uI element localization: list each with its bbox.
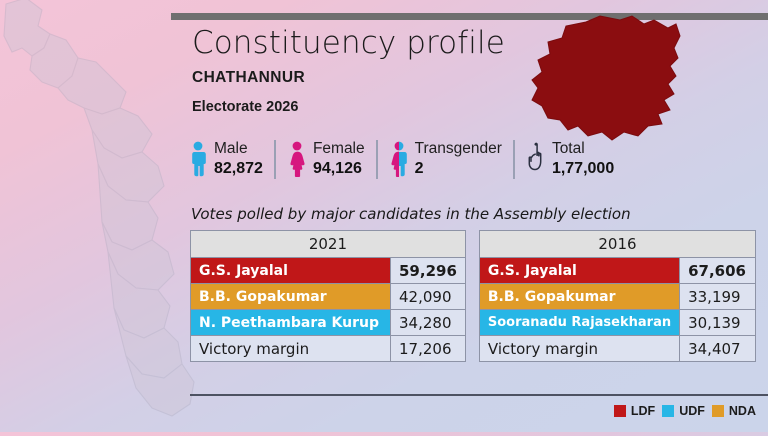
legend-swatch-nda — [712, 405, 724, 417]
table-row: B.B. Gopakumar 42,090 — [191, 284, 466, 310]
candidate-name: G.S. Jayalal — [479, 258, 679, 284]
table-header-row: 2016 — [479, 231, 755, 258]
inked-finger-icon — [526, 141, 546, 177]
demographic-male: Male 82,872 — [188, 140, 274, 179]
victory-margin-value: 17,206 — [391, 336, 466, 362]
candidate-name: B.B. Gopakumar — [479, 284, 679, 310]
victory-margin-label: Victory margin — [191, 336, 391, 362]
candidate-name: Sooranadu Rajasekharan — [479, 310, 679, 336]
table-row: Sooranadu Rajasekharan 30,139 — [479, 310, 755, 336]
party-legend: LDF UDF NDA — [614, 404, 756, 418]
page-title: Constituency profile — [192, 26, 505, 61]
table-row: Victory margin 34,407 — [479, 336, 755, 362]
female-figure-icon — [287, 141, 307, 177]
legend-swatch-udf — [662, 405, 674, 417]
table-row: N. Peethambara Kurup 34,280 — [191, 310, 466, 336]
demographic-label: Male — [214, 140, 263, 158]
table-row: G.S. Jayalal 67,606 — [479, 258, 755, 284]
candidate-votes: 42,090 — [391, 284, 466, 310]
candidate-votes: 33,199 — [680, 284, 756, 310]
demographic-label: Female — [313, 140, 365, 158]
constituency-name: CHATHANNUR — [192, 69, 505, 87]
legend-item-ldf: LDF — [614, 404, 655, 418]
tables-caption: Votes polled by major candidates in the … — [191, 205, 631, 223]
demographic-label: Total — [552, 140, 614, 158]
bottom-divider-rule — [190, 394, 768, 396]
legend-item-udf: UDF — [662, 404, 705, 418]
electorate-label: Electorate 2026 — [192, 99, 505, 115]
table-row: G.S. Jayalal 59,296 — [191, 258, 466, 284]
candidate-name: N. Peethambara Kurup — [191, 310, 391, 336]
legend-label: LDF — [631, 404, 655, 418]
demographic-value: 2 — [415, 160, 502, 179]
kerala-state-map — [0, 0, 222, 436]
candidate-votes: 34,280 — [391, 310, 466, 336]
table-header-row: 2021 — [191, 231, 466, 258]
victory-margin-value: 34,407 — [680, 336, 756, 362]
candidate-votes: 59,296 — [391, 258, 466, 284]
transgender-figure-icon — [389, 141, 409, 177]
header-block: Constituency profile CHATHANNUR Electora… — [192, 26, 505, 115]
constituency-map-shape — [528, 14, 703, 146]
demographic-label: Transgender — [415, 140, 502, 158]
demographic-total: Total 1,77,000 — [513, 140, 625, 179]
year-header: 2016 — [479, 231, 755, 258]
demographic-female: Female 94,126 — [274, 140, 376, 179]
candidate-name: B.B. Gopakumar — [191, 284, 391, 310]
victory-margin-label: Victory margin — [479, 336, 679, 362]
table-row: B.B. Gopakumar 33,199 — [479, 284, 755, 310]
results-table-2016: 2016 G.S. Jayalal 67,606 B.B. Gopakumar … — [479, 230, 756, 362]
demographic-value: 94,126 — [313, 160, 365, 179]
legend-swatch-ldf — [614, 405, 626, 417]
election-tables: 2021 G.S. Jayalal 59,296 B.B. Gopakumar … — [190, 230, 756, 362]
demographic-transgender: Transgender 2 — [376, 140, 513, 179]
year-header: 2021 — [191, 231, 466, 258]
demographic-value: 82,872 — [214, 160, 263, 179]
candidate-votes: 67,606 — [680, 258, 756, 284]
results-table-2021: 2021 G.S. Jayalal 59,296 B.B. Gopakumar … — [190, 230, 466, 362]
table-row: Victory margin 17,206 — [191, 336, 466, 362]
legend-label: NDA — [729, 404, 756, 418]
male-figure-icon — [188, 141, 208, 177]
candidate-name: G.S. Jayalal — [191, 258, 391, 284]
demographic-value: 1,77,000 — [552, 160, 614, 179]
demographics-row: Male 82,872 Female 94,126 Transgender 2 — [188, 140, 625, 179]
legend-label: UDF — [679, 404, 705, 418]
candidate-votes: 30,139 — [680, 310, 756, 336]
legend-item-nda: NDA — [712, 404, 756, 418]
